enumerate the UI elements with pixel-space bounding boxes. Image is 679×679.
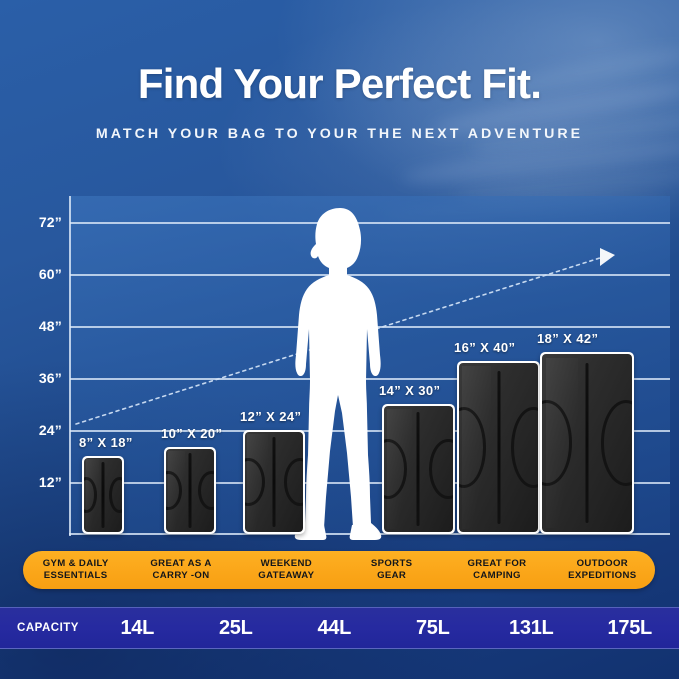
use-case-line-1: GYM & DAILY	[43, 558, 109, 569]
bag-lens-right-icon	[511, 407, 538, 488]
y-axis-tick-label: 36”	[6, 370, 62, 386]
bag-body	[166, 449, 214, 532]
y-axis-tick-label: 48”	[6, 318, 62, 334]
use-case-line-1: GREAT FOR	[468, 558, 527, 569]
bag-body	[84, 458, 122, 532]
bag-size-label: 16” X 40”	[454, 340, 515, 355]
use-case-line-2: GATEAWAY	[258, 570, 314, 581]
bag-lens-right-icon	[284, 458, 304, 506]
use-case-line-1: WEEKEND	[261, 558, 313, 569]
bag-size-label: 14” X 30”	[379, 383, 440, 398]
bag-sheen	[247, 434, 268, 530]
infographic-canvas: Find Your Perfect Fit. MATCH YOUR BAG TO…	[0, 0, 679, 679]
bag-bar[interactable]	[82, 456, 124, 534]
use-case-line-1: SPORTS	[371, 558, 413, 569]
bag-lens-right-icon	[429, 439, 452, 499]
bag-sheen	[546, 358, 578, 529]
use-case-cell: SPORTSGEAR	[339, 558, 444, 582]
use-case-cell: GREAT FORCAMPING	[444, 558, 549, 582]
y-axis-tick-label: 12”	[6, 474, 62, 490]
capacity-bar: CAPACITY 14L25L44L75L131L175L	[0, 607, 679, 649]
bag-spine-icon	[497, 371, 500, 523]
capacity-value: 175L	[581, 617, 679, 640]
use-case-bar: GYM & DAILYESSENTIALSGREAT AS ACARRY -ON…	[23, 551, 655, 589]
use-case-line-2: GEAR	[377, 570, 406, 581]
bag-size-label: 8” X 18”	[79, 435, 133, 450]
capacity-value: 14L	[88, 617, 187, 640]
use-case-cell: OUTDOOREXPEDITIONS	[550, 558, 655, 582]
use-case-cell: GREAT AS ACARRY -ON	[128, 558, 233, 582]
bag-sheen	[387, 409, 412, 530]
bag-bar[interactable]	[164, 447, 216, 534]
bag-sheen	[462, 366, 491, 529]
bag-size-label: 12” X 24”	[240, 409, 301, 424]
bag-size-label: 18” X 42”	[537, 331, 598, 346]
bag-sheen	[86, 459, 100, 530]
bag-spine-icon	[417, 412, 420, 525]
bag-body	[459, 363, 538, 532]
bag-lens-right-icon	[601, 400, 631, 485]
capacity-value: 75L	[384, 617, 483, 640]
bag-bar[interactable]	[457, 361, 540, 534]
y-axis-line	[69, 196, 71, 536]
y-axis-tick-label: 60”	[6, 266, 62, 282]
capacity-value: 44L	[285, 617, 384, 640]
bag-lens-right-icon	[198, 471, 214, 511]
use-case-cell: GYM & DAILYESSENTIALS	[23, 558, 128, 582]
y-axis-tick-label: 72”	[6, 214, 62, 230]
bag-sheen	[168, 451, 185, 530]
capacity-value: 131L	[482, 617, 581, 640]
use-case-line-2: ESSENTIALS	[44, 570, 108, 581]
bag-body	[245, 432, 303, 532]
use-case-cell: WEEKENDGATEAWAY	[234, 558, 339, 582]
capacity-value: 25L	[187, 617, 286, 640]
bag-lens-right-icon	[109, 477, 122, 513]
bag-bar[interactable]	[540, 352, 634, 534]
bag-spine-icon	[585, 363, 588, 523]
bag-spine-icon	[189, 453, 192, 527]
use-case-line-1: GREAT AS A	[150, 558, 211, 569]
use-case-line-1: OUTDOOR	[577, 558, 628, 569]
bag-size-label: 10” X 20”	[161, 426, 222, 441]
y-axis-tick-label: 24”	[6, 422, 62, 438]
bag-body	[384, 406, 453, 532]
bag-spine-icon	[101, 462, 104, 529]
capacity-label: CAPACITY	[0, 622, 88, 634]
use-case-line-2: CAMPING	[473, 570, 521, 581]
bag-bar[interactable]	[382, 404, 455, 534]
use-case-line-2: EXPEDITIONS	[568, 570, 636, 581]
bag-body	[542, 354, 632, 532]
use-case-line-2: CARRY -ON	[153, 570, 210, 581]
bag-spine-icon	[273, 437, 276, 527]
bag-bar[interactable]	[243, 430, 305, 534]
